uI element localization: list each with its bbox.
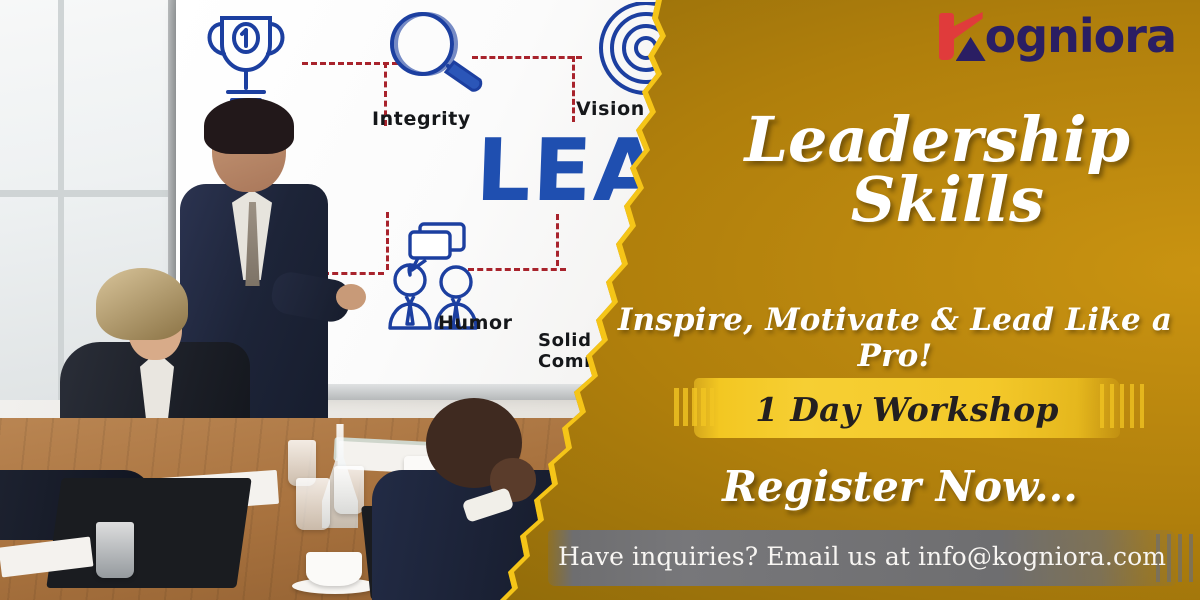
water-glass bbox=[96, 522, 134, 578]
contact-info[interactable]: Have inquiries? Email us at info@kognior… bbox=[548, 542, 1176, 571]
whiteboard-label-humor: Humor bbox=[438, 312, 513, 334]
coffee-cup bbox=[306, 552, 362, 586]
connector-dash bbox=[556, 214, 559, 266]
water-glass bbox=[334, 466, 364, 514]
trophy-icon bbox=[198, 6, 294, 108]
logo-arm-shape bbox=[949, 12, 983, 39]
attendee-hair bbox=[96, 268, 188, 340]
presenter-hand bbox=[336, 284, 366, 310]
water-glass bbox=[296, 478, 330, 530]
page-title: Leadership Skills bbox=[590, 110, 1130, 229]
headline-line-2: Skills bbox=[590, 170, 1130, 230]
laptop bbox=[46, 478, 251, 588]
event-poster: LEADER Integrity Vision Positive Humor S… bbox=[0, 0, 1200, 600]
k-logo-icon bbox=[937, 9, 989, 63]
brand-logo[interactable]: ogniora bbox=[937, 8, 1176, 64]
register-cta[interactable]: Register Now... bbox=[640, 462, 1160, 511]
connector-dash bbox=[572, 56, 575, 122]
brand-name: ogniora bbox=[985, 9, 1176, 63]
magnifier-icon bbox=[382, 8, 494, 94]
logo-triangle-shape bbox=[956, 37, 986, 61]
tagline: Inspire, Motivate & Lead Like a Pro! bbox=[600, 302, 1190, 374]
status-badge: 1 Day Workshop bbox=[694, 390, 1120, 429]
whiteboard-label-integrity: Integrity bbox=[372, 108, 471, 130]
presenter-hair bbox=[204, 98, 294, 154]
